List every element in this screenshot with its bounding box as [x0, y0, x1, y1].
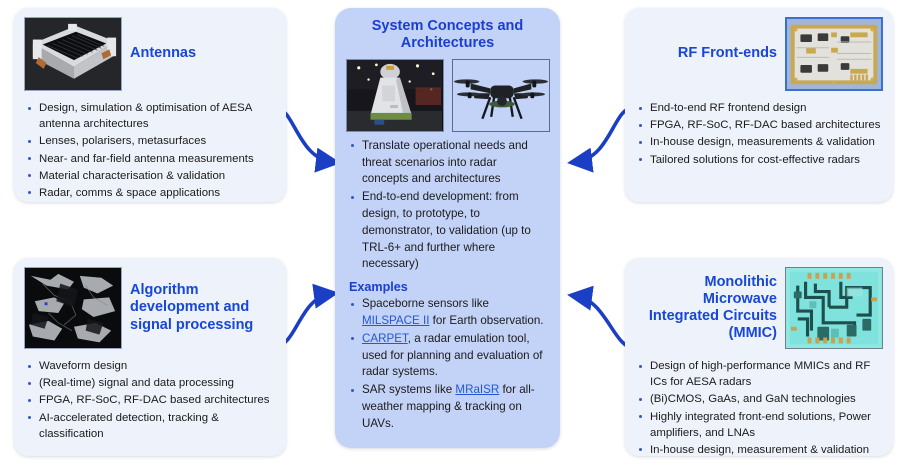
- center-image-row: [335, 59, 560, 132]
- panel-header: Monolithic Microwave Integrated Circuits…: [625, 258, 893, 351]
- quadcopter-drone-photo: [452, 59, 550, 132]
- list-item: Spaceborne sensors like MILSPACE II for …: [349, 296, 546, 330]
- panel-bullet-list: End-to-end RF frontend design FPGA, RF-S…: [625, 93, 893, 179]
- panel-header: Antennas: [14, 8, 286, 93]
- list-item: (Bi)CMOS, GaAs, and GaN technologies: [637, 391, 881, 407]
- panel-header: RF Front-ends: [625, 8, 893, 93]
- link-mraisr[interactable]: MRaISR: [455, 383, 499, 396]
- panel-system-concepts[interactable]: System Concepts and Architectures: [335, 8, 560, 448]
- panel-bullet-list: Design, simulation & optimisation of AES…: [14, 93, 286, 212]
- panel-title: Algorithm development and signal process…: [122, 282, 276, 333]
- examples-list: Spaceborne sensors like MILSPACE II for …: [335, 294, 560, 435]
- list-item: CARPET, a radar emulation tool, used for…: [349, 331, 546, 381]
- panel-title: RF Front-ends: [635, 45, 785, 62]
- sar-radar-image-photo: [24, 267, 122, 349]
- list-item: (Real-time) signal and data processing: [26, 375, 274, 391]
- list-item: End-to-end RF frontend design: [637, 100, 881, 116]
- list-item: Translate operational needs and threat s…: [349, 138, 546, 188]
- panel-bullet-list: Waveform design (Real-time) signal and d…: [14, 351, 286, 453]
- center-panel-title: System Concepts and Architectures: [335, 8, 560, 59]
- panel-header: Algorithm development and signal process…: [14, 258, 286, 351]
- examples-heading: Examples: [335, 276, 560, 294]
- spaceborne-radar-sensor-photo: [346, 59, 444, 132]
- list-item: FPGA, RF-SoC, RF-DAC based architectures: [26, 392, 274, 408]
- list-item: Lenses, polarisers, metasurfaces: [26, 133, 274, 149]
- list-item: Material characterisation & validation: [26, 168, 274, 184]
- list-item: AI-accelerated detection, tracking & cla…: [26, 410, 274, 442]
- list-item: Near- and far-field antenna measurements: [26, 151, 274, 167]
- list-item: SAR systems like MRaISR for all-weather …: [349, 382, 546, 432]
- list-item: Radar, comms & space applications: [26, 185, 274, 201]
- rf-frontend-pcb-photo: [785, 17, 883, 91]
- mmic-die-photo: [785, 267, 883, 349]
- panel-algorithm-development[interactable]: Algorithm development and signal process…: [14, 258, 286, 456]
- list-item: Highly integrated front-end solutions, P…: [637, 409, 881, 441]
- list-item: Design, simulation & optimisation of AES…: [26, 100, 274, 132]
- aesa-antenna-array-photo: [24, 17, 122, 91]
- panel-antennas[interactable]: Antennas Design, simulation & optimisati…: [14, 8, 286, 202]
- list-item: Tailored solutions for cost-effective ra…: [637, 152, 881, 168]
- example-text-pre: SAR systems like: [362, 383, 455, 396]
- diagram-canvas: Antennas Design, simulation & optimisati…: [0, 0, 907, 470]
- panel-bullet-list: Design of high-performance MMICs and RF …: [625, 351, 893, 469]
- example-text-pre: Spaceborne sensors like: [362, 297, 489, 310]
- list-item: Design of high-performance MMICs and RF …: [637, 358, 881, 390]
- list-item: Waveform design: [26, 358, 274, 374]
- list-item: In-house design, measurement & validatio…: [637, 442, 881, 458]
- panel-rf-front-ends[interactable]: RF Front-ends End-to-end RF frontend des…: [625, 8, 893, 202]
- link-carpet[interactable]: CARPET: [362, 332, 408, 345]
- panel-title: Monolithic Microwave Integrated Circuits…: [635, 274, 785, 342]
- list-item: In-house design, measurements & validati…: [637, 134, 881, 150]
- panel-mmic[interactable]: Monolithic Microwave Integrated Circuits…: [625, 258, 893, 456]
- list-item: FPGA, RF-SoC, RF-DAC based architectures: [637, 117, 881, 133]
- list-item: End-to-end development: from design, to …: [349, 189, 546, 273]
- center-bullet-list: Translate operational needs and threat s…: [335, 132, 560, 276]
- link-milspace-ii[interactable]: MILSPACE II: [362, 314, 429, 327]
- example-text-post: for Earth observation.: [429, 314, 543, 327]
- panel-title: Antennas: [122, 45, 276, 62]
